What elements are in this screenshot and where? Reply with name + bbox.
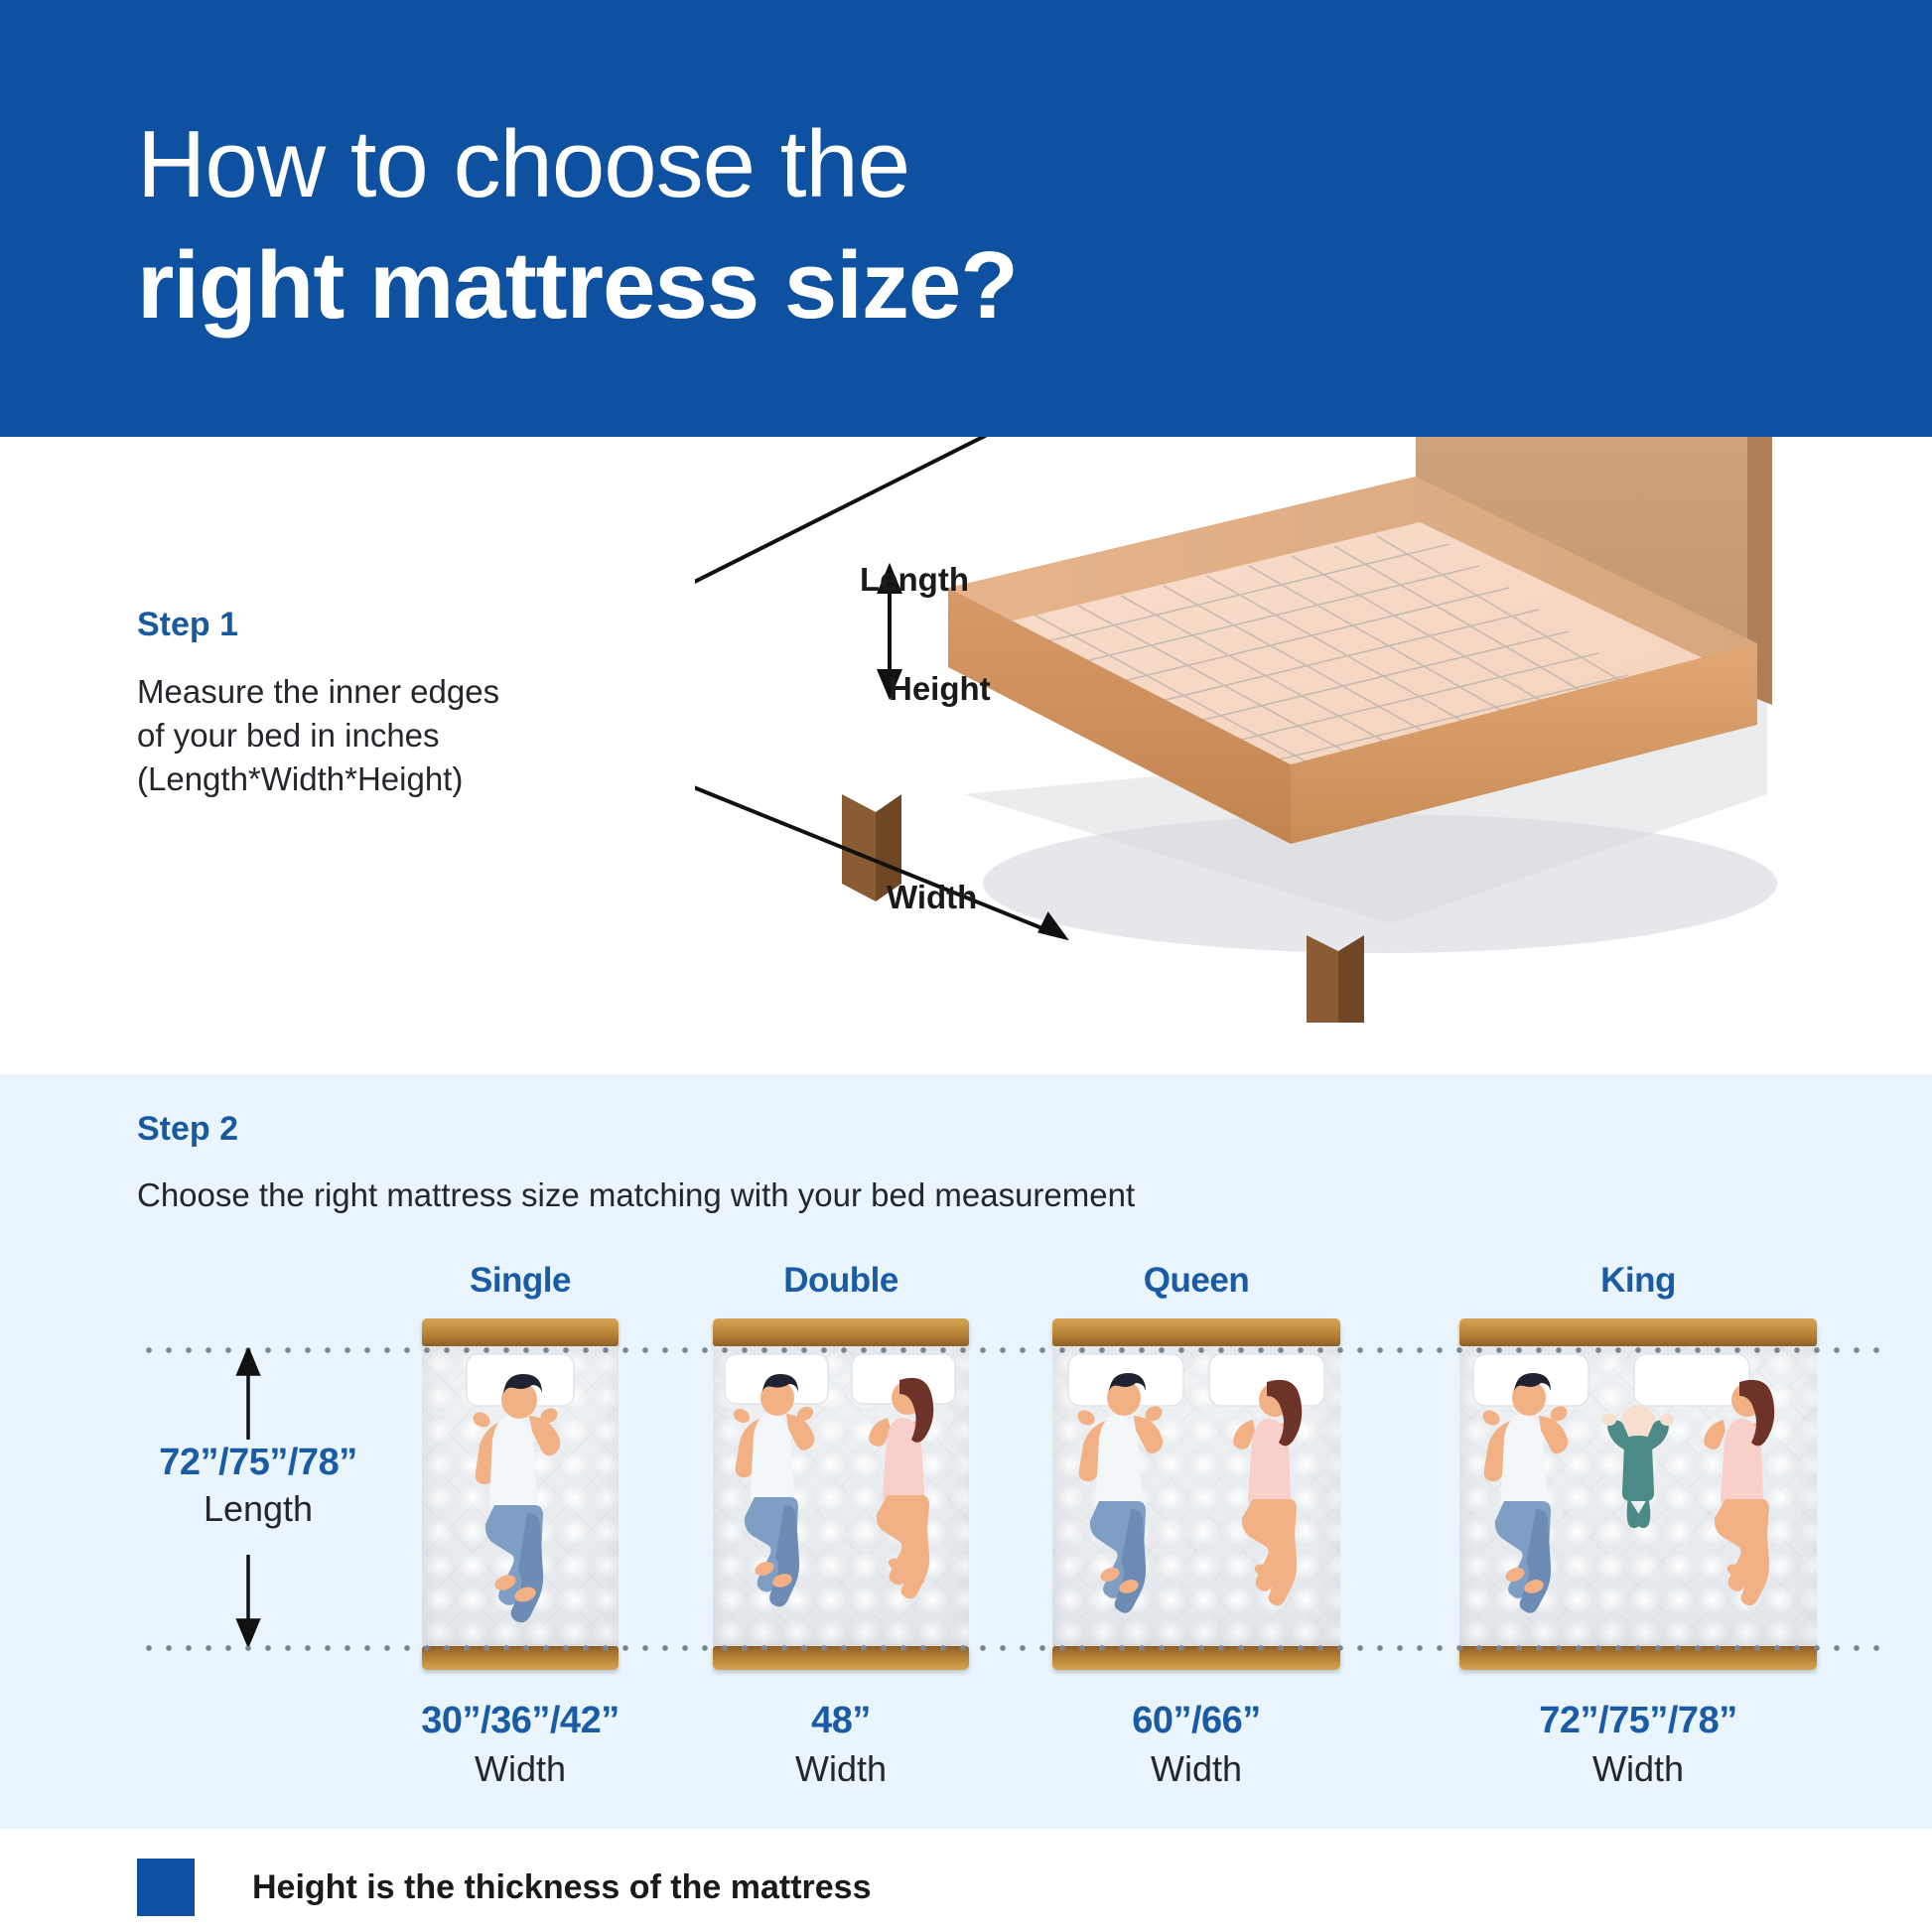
- person-woman: [869, 1378, 933, 1598]
- mattress-surface-queen: [1052, 1346, 1340, 1646]
- width-caption-king: 72”/75”/78” Width: [1509, 1700, 1767, 1790]
- step-1-body-line-1: Measure the inner edges: [137, 670, 653, 714]
- sleepers-queen: [1052, 1346, 1340, 1646]
- bed-frame-top-double: [713, 1318, 969, 1346]
- mattress-title-single: Single: [422, 1261, 619, 1301]
- person-woman: [1704, 1380, 1774, 1605]
- legend-color-swatch: [137, 1859, 195, 1916]
- step-1-block: Step 1 Measure the inner edges of your b…: [137, 606, 653, 801]
- width-caption-queen: 60”/66” Width: [1067, 1700, 1325, 1790]
- footer-legend: Height is the thickness of the mattress: [137, 1859, 872, 1916]
- mattress-surface-king: [1459, 1346, 1817, 1646]
- person-baby: [1602, 1405, 1674, 1528]
- length-guide-line-top: [139, 1346, 1886, 1354]
- width-value-single: 30”/36”/42”: [391, 1700, 649, 1742]
- bed-length-label: Length: [860, 561, 969, 599]
- step-2-block: Step 2 Choose the right mattress size ma…: [137, 1110, 1135, 1214]
- length-axis-value: 72”/75”/78”: [119, 1442, 397, 1484]
- sleepers-king: [1459, 1346, 1817, 1646]
- width-value-king: 72”/75”/78”: [1509, 1700, 1767, 1742]
- width-label-double: Width: [712, 1748, 970, 1790]
- bed-height-label: Height: [889, 670, 991, 708]
- sleepers-double: [713, 1346, 969, 1646]
- person-man: [1480, 1373, 1571, 1613]
- person-man: [731, 1374, 815, 1606]
- step-2-heading: Step 2: [137, 1110, 1135, 1149]
- bed-frame-top-king: [1459, 1318, 1817, 1346]
- person-man: [1075, 1373, 1166, 1613]
- mattress-title-queen: Queen: [1052, 1261, 1340, 1301]
- person-woman: [1233, 1380, 1302, 1605]
- step-1-body-line-2: of your bed in inches: [137, 714, 653, 758]
- legend-text: Height is the thickness of the mattress: [252, 1868, 872, 1907]
- bed-width-label: Width: [887, 879, 977, 916]
- width-label-queen: Width: [1067, 1748, 1325, 1790]
- bed-frame-top-queen: [1052, 1318, 1340, 1346]
- length-axis-caption: 72”/75”/78” Length: [119, 1442, 397, 1530]
- length-guide-line-bottom: [139, 1644, 1886, 1652]
- mattress-surface-single: [422, 1346, 619, 1646]
- page-title-line-2: right mattress size?: [137, 238, 1018, 334]
- width-value-double: 48”: [712, 1700, 970, 1742]
- width-caption-double: 48” Width: [712, 1700, 970, 1790]
- bed-frame-top-single: [422, 1318, 619, 1346]
- mattress-title-king: King: [1459, 1261, 1817, 1301]
- step-2-body: Choose the right mattress size matching …: [137, 1176, 1135, 1214]
- sleepers-single: [422, 1346, 619, 1646]
- width-label-single: Width: [391, 1748, 649, 1790]
- page-title-line-1: How to choose the: [137, 117, 909, 212]
- mattress-surface-double: [713, 1346, 969, 1646]
- step-1-body: Measure the inner edges of your bed in i…: [137, 670, 653, 801]
- person-man: [471, 1374, 561, 1622]
- header-banner: How to choose the right mattress size?: [0, 0, 1932, 437]
- mattress-title-double: Double: [713, 1261, 969, 1301]
- length-axis-unit-label: Length: [119, 1488, 397, 1530]
- width-caption-single: 30”/36”/42” Width: [391, 1700, 649, 1790]
- step-1-heading: Step 1: [137, 606, 653, 644]
- step-1-body-line-3: (Length*Width*Height): [137, 758, 653, 801]
- width-value-queen: 60”/66”: [1067, 1700, 1325, 1742]
- width-label-king: Width: [1509, 1748, 1767, 1790]
